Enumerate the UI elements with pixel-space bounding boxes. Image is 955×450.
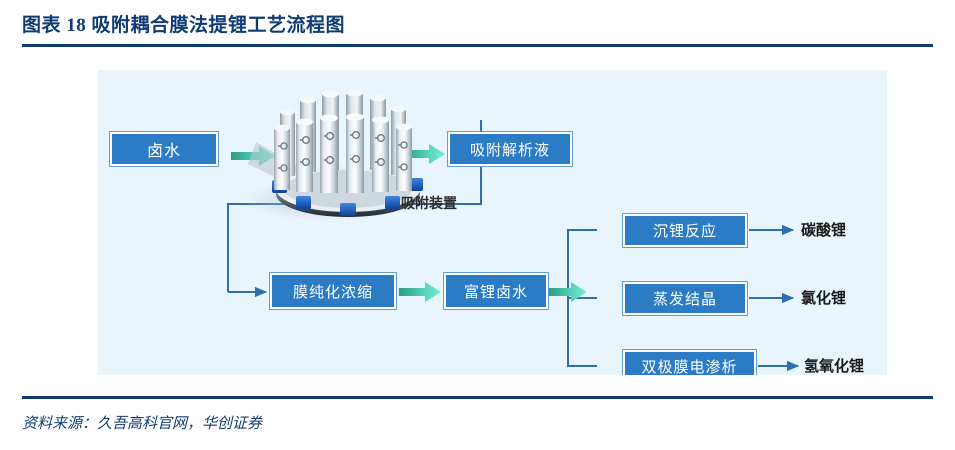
product-lithium-carbonate: 碳酸锂 bbox=[801, 219, 846, 240]
node-evaporation[interactable]: 蒸发结晶 bbox=[623, 282, 747, 315]
product-lithium-chloride: 氯化锂 bbox=[801, 287, 846, 308]
node-rich-brine-label: 富锂卤水 bbox=[464, 281, 528, 302]
node-membrane[interactable]: 膜纯化浓缩 bbox=[270, 273, 396, 309]
figure-container: 图表 18 吸附耦合膜法提锂工艺流程图 bbox=[0, 0, 955, 450]
node-bipolar[interactable]: 双极膜电渗析 bbox=[623, 350, 756, 375]
node-desorption[interactable]: 吸附解析液 bbox=[448, 132, 572, 166]
diagram-panel: 卤水 吸附解析液 吸附装置 膜纯化浓缩 富锂卤水 沉锂反应 蒸发结晶 双极膜电渗… bbox=[98, 70, 887, 375]
node-brine[interactable]: 卤水 bbox=[110, 132, 218, 166]
node-desorption-label: 吸附解析液 bbox=[470, 139, 550, 160]
node-membrane-label: 膜纯化浓缩 bbox=[293, 281, 373, 302]
node-brine-label: 卤水 bbox=[147, 137, 181, 161]
connector-layer bbox=[98, 70, 887, 375]
node-rich-brine[interactable]: 富锂卤水 bbox=[444, 273, 548, 309]
equipment-caption: 吸附装置 bbox=[401, 193, 457, 213]
node-evaporation-label: 蒸发结晶 bbox=[653, 288, 717, 309]
figure-source: 资料来源：久吾高科官网，华创证券 bbox=[22, 412, 262, 433]
product-lithium-hydroxide: 氢氧化锂 bbox=[804, 355, 864, 375]
node-precipitation-label: 沉锂反应 bbox=[653, 220, 717, 241]
source-divider-bottom bbox=[22, 396, 933, 399]
teal-arrow-membrane-to-richbrine bbox=[399, 282, 441, 302]
figure-title: 图表 18 吸附耦合膜法提锂工艺流程图 bbox=[22, 10, 345, 37]
node-precipitation[interactable]: 沉锂反应 bbox=[623, 214, 747, 247]
node-bipolar-label: 双极膜电渗析 bbox=[641, 356, 737, 375]
teal-arrow-richbrine-to-split bbox=[549, 282, 587, 302]
title-divider-top bbox=[22, 44, 933, 47]
